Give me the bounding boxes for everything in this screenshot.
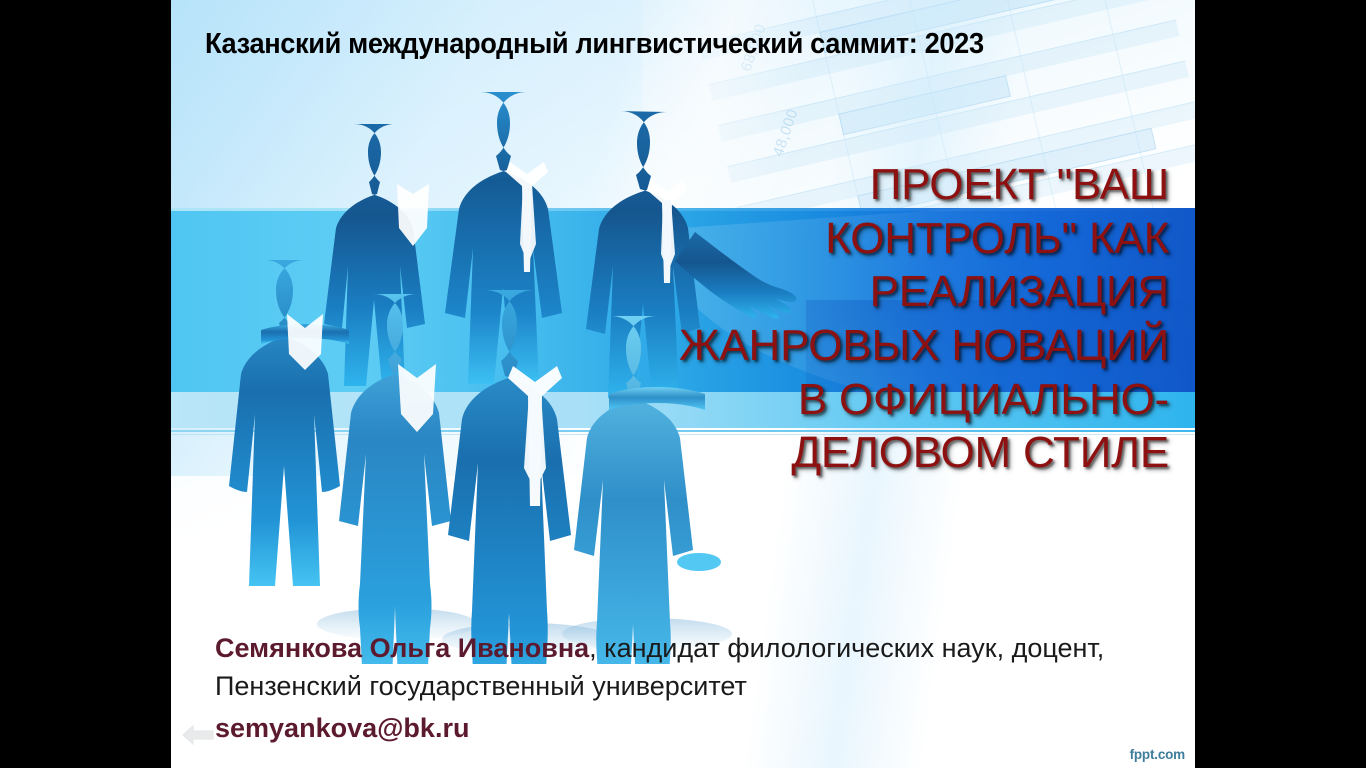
title-line-3: РЕАЛИЗАЦИЯ xyxy=(609,265,1169,319)
letterbox-right xyxy=(1195,0,1366,768)
slide-main-title: ПРОЕКТ "ВАШ КОНТРОЛЬ" КАК РЕАЛИЗАЦИЯ ЖАН… xyxy=(609,158,1169,480)
title-line-4: ЖАНРОВЫХ НОВАЦИЙ xyxy=(609,319,1169,373)
author-block: Семянкова Ольга Ивановна, кандидат филол… xyxy=(215,630,1145,747)
title-line-1: ПРОЕКТ "ВАШ xyxy=(609,158,1169,212)
title-line-6: ДЕЛОВОМ СТИЛЕ xyxy=(609,426,1169,480)
slide-header-title: Казанский международный лингвистический … xyxy=(205,28,1122,61)
title-line-5: В ОФИЦИАЛЬНО- xyxy=(609,373,1169,427)
presentation-slide: 68,000 48,000 xyxy=(171,0,1195,768)
author-email[interactable]: semyankova@bk.ru xyxy=(215,710,1145,748)
author-name: Семянкова Ольга Ивановна xyxy=(215,633,589,663)
screen-root: 68,000 48,000 xyxy=(0,0,1366,768)
title-line-2: КОНТРОЛЬ" КАК xyxy=(609,212,1169,266)
fppt-watermark: fppt.com xyxy=(1130,747,1185,762)
letterbox-left xyxy=(0,0,171,768)
arrow-left-icon[interactable] xyxy=(181,724,215,746)
